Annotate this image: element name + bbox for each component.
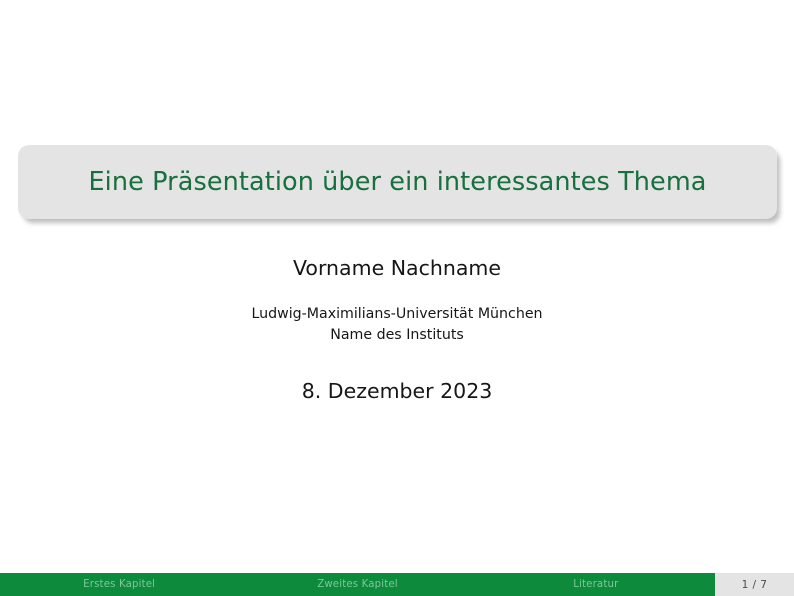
page-indicator-box: 1 / 7 — [715, 573, 794, 596]
institute-block: Ludwig-Maximilians-Universität München N… — [0, 304, 794, 347]
presentation-title-slide: Eine Präsentation über ein interessantes… — [0, 0, 794, 596]
presentation-title: Eine Präsentation über ein interessantes… — [88, 168, 706, 196]
footer-navigation-bar: Erstes Kapitel Zweites Kapitel Literatur… — [0, 573, 794, 596]
footer-section-list: Erstes Kapitel Zweites Kapitel Literatur — [0, 573, 715, 596]
institute-university: Ludwig-Maximilians-Universität München — [251, 306, 542, 322]
page-indicator: 1 / 7 — [742, 579, 768, 591]
footer-section-zweites-kapitel[interactable]: Zweites Kapitel — [238, 573, 476, 596]
presentation-date: 8. Dezember 2023 — [0, 378, 794, 405]
title-banner: Eine Präsentation über ein interessantes… — [18, 145, 777, 219]
footer-section-literatur[interactable]: Literatur — [477, 573, 715, 596]
footer-section-erstes-kapitel[interactable]: Erstes Kapitel — [0, 573, 238, 596]
title-meta-block: Vorname Nachname Ludwig-Maximilians-Univ… — [0, 255, 794, 404]
institute-department: Name des Instituts — [0, 325, 794, 347]
author-name: Vorname Nachname — [0, 255, 794, 282]
